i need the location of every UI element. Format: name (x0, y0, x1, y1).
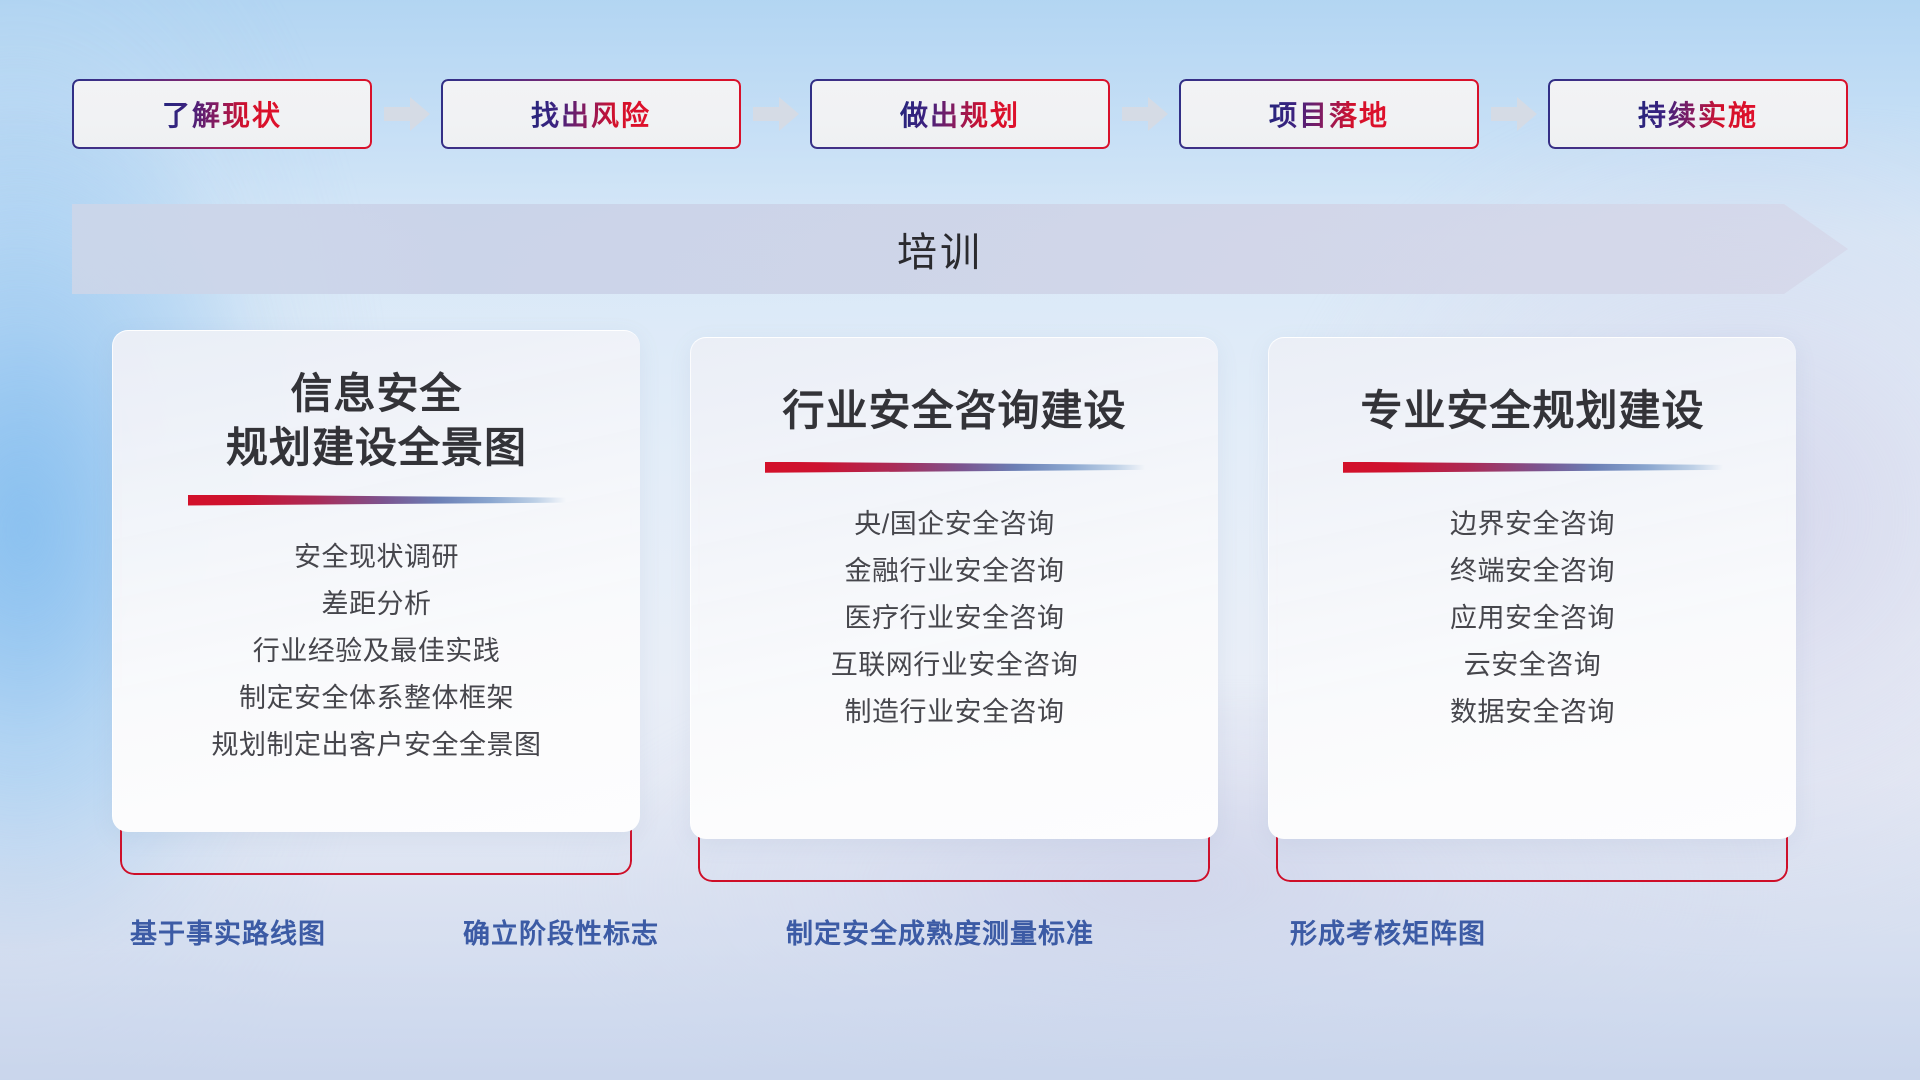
step-arrow-2-icon (741, 97, 810, 131)
card-1-title-line-1: 信息安全 (131, 367, 622, 421)
list-item: 规划制定出客户安全全景图 (113, 722, 640, 769)
card-2-title: 行业安全咨询建设 (691, 384, 1218, 438)
step-arrow-4-icon (1479, 97, 1548, 131)
step-arrow-3-icon (1110, 97, 1179, 131)
list-item: 互联网行业安全咨询 (691, 642, 1218, 689)
step-chip-4[interactable]: 项目落地 (1179, 79, 1479, 149)
slide-canvas: 了解现状 找出风险 做出规划 项目落地 (0, 0, 1920, 1080)
list-item: 安全现状调研 (113, 534, 640, 581)
training-banner-title: 培训 (72, 204, 1848, 294)
card-1-title-line-2: 规划建设全景图 (131, 421, 622, 475)
training-arrow-banner: 培训 (72, 204, 1848, 294)
list-item: 云安全咨询 (1269, 642, 1796, 689)
list-item: 应用安全咨询 (1269, 595, 1796, 642)
step-chip-3-label: 做出规划 (900, 94, 1020, 134)
list-item: 制造行业安全咨询 (691, 689, 1218, 736)
step-chip-4-label: 项目落地 (1269, 94, 1389, 134)
outcome-label-1: 基于事实路线图 (130, 912, 326, 951)
card-1-surface: 信息安全 规划建设全景图 安全现状调研 差距分析 行业经验及最佳实践 制定安全体… (112, 330, 640, 832)
card-1-divider (188, 495, 566, 506)
card-2-divider-bar (765, 462, 1145, 473)
step-chip-2-label: 找出风险 (531, 94, 651, 134)
card-3-divider (1343, 462, 1723, 473)
card-3-title-line-1: 专业安全规划建设 (1287, 384, 1778, 438)
step-chip-3[interactable]: 做出规划 (810, 79, 1110, 149)
list-item: 医疗行业安全咨询 (691, 595, 1218, 642)
card-1-title: 信息安全 规划建设全景图 (113, 367, 640, 475)
outcome-label-row: 基于事实路线图 确立阶段性标志 制定安全成熟度测量标准 形成考核矩阵图 (0, 912, 1920, 972)
card-2-surface: 行业安全咨询建设 央/国企安全咨询 金融行业安全咨询 医疗行业安全咨询 互联网行… (690, 337, 1218, 839)
capability-card-row: 信息安全 规划建设全景图 安全现状调研 差距分析 行业经验及最佳实践 制定安全体… (0, 330, 1920, 890)
list-item: 数据安全咨询 (1269, 689, 1796, 736)
card-3-divider-bar (1343, 462, 1723, 473)
step-arrow-1-icon (372, 97, 441, 131)
capability-card-3[interactable]: 专业安全规划建设 边界安全咨询 终端安全咨询 应用安全咨询 云安全咨询 数据安全… (1268, 337, 1796, 882)
step-chip-5-label: 持续实施 (1638, 94, 1758, 134)
outcome-label-4: 形成考核矩阵图 (1290, 912, 1486, 951)
list-item: 制定安全体系整体框架 (113, 675, 640, 722)
step-chip-1-label: 了解现状 (162, 94, 282, 134)
step-chip-2[interactable]: 找出风险 (441, 79, 741, 149)
card-2-item-list: 央/国企安全咨询 金融行业安全咨询 医疗行业安全咨询 互联网行业安全咨询 制造行… (691, 501, 1218, 736)
capability-card-2[interactable]: 行业安全咨询建设 央/国企安全咨询 金融行业安全咨询 医疗行业安全咨询 互联网行… (690, 337, 1218, 882)
card-3-item-list: 边界安全咨询 终端安全咨询 应用安全咨询 云安全咨询 数据安全咨询 (1269, 501, 1796, 736)
step-chip-1[interactable]: 了解现状 (72, 79, 372, 149)
card-1-divider-bar (188, 495, 566, 506)
list-item: 行业经验及最佳实践 (113, 628, 640, 675)
outcome-label-2: 确立阶段性标志 (463, 912, 659, 951)
process-step-bar: 了解现状 找出风险 做出规划 项目落地 (72, 79, 1848, 149)
capability-card-1[interactable]: 信息安全 规划建设全景图 安全现状调研 差距分析 行业经验及最佳实践 制定安全体… (112, 330, 640, 875)
card-2-title-line-1: 行业安全咨询建设 (709, 384, 1200, 438)
step-chip-5[interactable]: 持续实施 (1548, 79, 1848, 149)
outcome-label-3: 制定安全成熟度测量标准 (786, 912, 1094, 951)
card-3-title: 专业安全规划建设 (1269, 384, 1796, 438)
list-item: 差距分析 (113, 581, 640, 628)
list-item: 央/国企安全咨询 (691, 501, 1218, 548)
list-item: 终端安全咨询 (1269, 548, 1796, 595)
card-3-surface: 专业安全规划建设 边界安全咨询 终端安全咨询 应用安全咨询 云安全咨询 数据安全… (1268, 337, 1796, 839)
card-1-item-list: 安全现状调研 差距分析 行业经验及最佳实践 制定安全体系整体框架 规划制定出客户… (113, 534, 640, 769)
list-item: 边界安全咨询 (1269, 501, 1796, 548)
card-2-divider (765, 462, 1145, 473)
list-item: 金融行业安全咨询 (691, 548, 1218, 595)
